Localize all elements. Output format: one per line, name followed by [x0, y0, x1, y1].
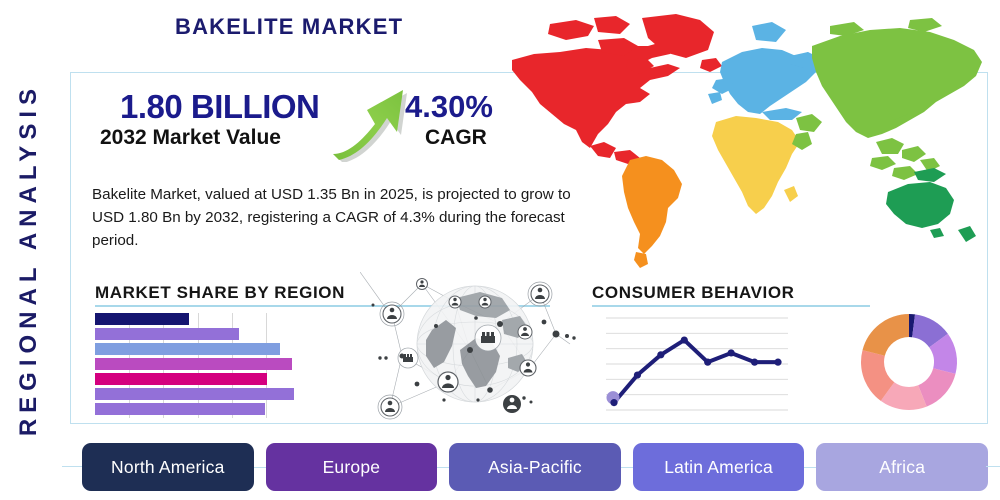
- bar-chart-row: [95, 328, 300, 340]
- region-button-north-america[interactable]: North America: [82, 443, 254, 491]
- line-chart-series: [614, 340, 778, 403]
- market-value-label: 2032 Market Value: [100, 126, 281, 150]
- bar-chart-bar: [95, 403, 265, 415]
- section-rule-consumer-behavior: [592, 305, 870, 307]
- map-region-oceania: [886, 168, 976, 242]
- line-chart-marker: [657, 351, 664, 358]
- line-chart-marker: [681, 336, 688, 343]
- consumer-segment-donut-chart: [855, 308, 963, 416]
- kpi-row: 1.80 BILLION 2032 Market Value 4.30% CAG…: [95, 88, 515, 168]
- bar-chart-row: [95, 358, 300, 370]
- bar-chart-bar: [95, 358, 292, 370]
- vertical-section-label: REGIONAL ANALYSIS: [0, 60, 58, 460]
- line-chart-marker: [610, 399, 617, 406]
- cagr-figure: 4.30%: [405, 89, 493, 125]
- bar-chart-bar: [95, 313, 189, 325]
- bar-chart-row: [95, 388, 300, 400]
- consumer-behavior-line-chart: [600, 312, 796, 418]
- line-chart-marker: [774, 359, 781, 366]
- region-connector: [254, 467, 266, 468]
- bar-chart-bar: [95, 388, 294, 400]
- bar-chart-row: [95, 313, 300, 325]
- bar-chart-bar: [95, 373, 267, 385]
- donut-segment: [863, 314, 909, 356]
- region-button-africa[interactable]: Africa: [816, 443, 988, 491]
- line-chart-marker: [704, 359, 711, 366]
- network-globe-graphic: [360, 272, 590, 427]
- growth-arrow-icon: [327, 84, 413, 162]
- market-value-figure: 1.80 BILLION: [120, 88, 319, 126]
- region-button-asia-pacific[interactable]: Asia-Pacific: [449, 443, 621, 491]
- region-connector: [621, 467, 633, 468]
- bar-chart-row: [95, 373, 300, 385]
- line-chart-marker: [751, 359, 758, 366]
- bar-chart-row: [95, 343, 300, 355]
- region-button-bar: North AmericaEuropeAsia-PacificLatin Ame…: [82, 443, 988, 491]
- region-button-europe[interactable]: Europe: [266, 443, 438, 491]
- cagr-label: CAGR: [425, 126, 487, 150]
- map-region-europe: [708, 22, 820, 120]
- map-region-asia: [792, 18, 982, 180]
- section-title-market-share: MARKET SHARE BY REGION: [95, 283, 345, 307]
- map-region-africa: [712, 116, 800, 214]
- bar-chart-row: [95, 403, 300, 415]
- page-title: BAKELITE MARKET: [175, 14, 403, 40]
- region-connector: [437, 467, 449, 468]
- bar-chart-bar: [95, 328, 239, 340]
- vertical-section-label-text: REGIONAL ANALYSIS: [15, 83, 43, 436]
- connector-line-left: [62, 466, 84, 467]
- region-button-latin-america[interactable]: Latin America: [633, 443, 805, 491]
- section-title-consumer-behavior: CONSUMER BEHAVIOR: [592, 283, 795, 307]
- world-map-graphic: [490, 2, 995, 274]
- connector-line-right: [986, 466, 1000, 467]
- region-connector: [804, 467, 816, 468]
- line-chart-marker: [634, 371, 641, 378]
- market-share-bar-chart: [95, 313, 300, 418]
- map-region-south-america: [622, 156, 682, 268]
- line-chart-marker: [728, 349, 735, 356]
- bar-chart-bar: [95, 343, 280, 355]
- map-region-north-america: [512, 14, 722, 164]
